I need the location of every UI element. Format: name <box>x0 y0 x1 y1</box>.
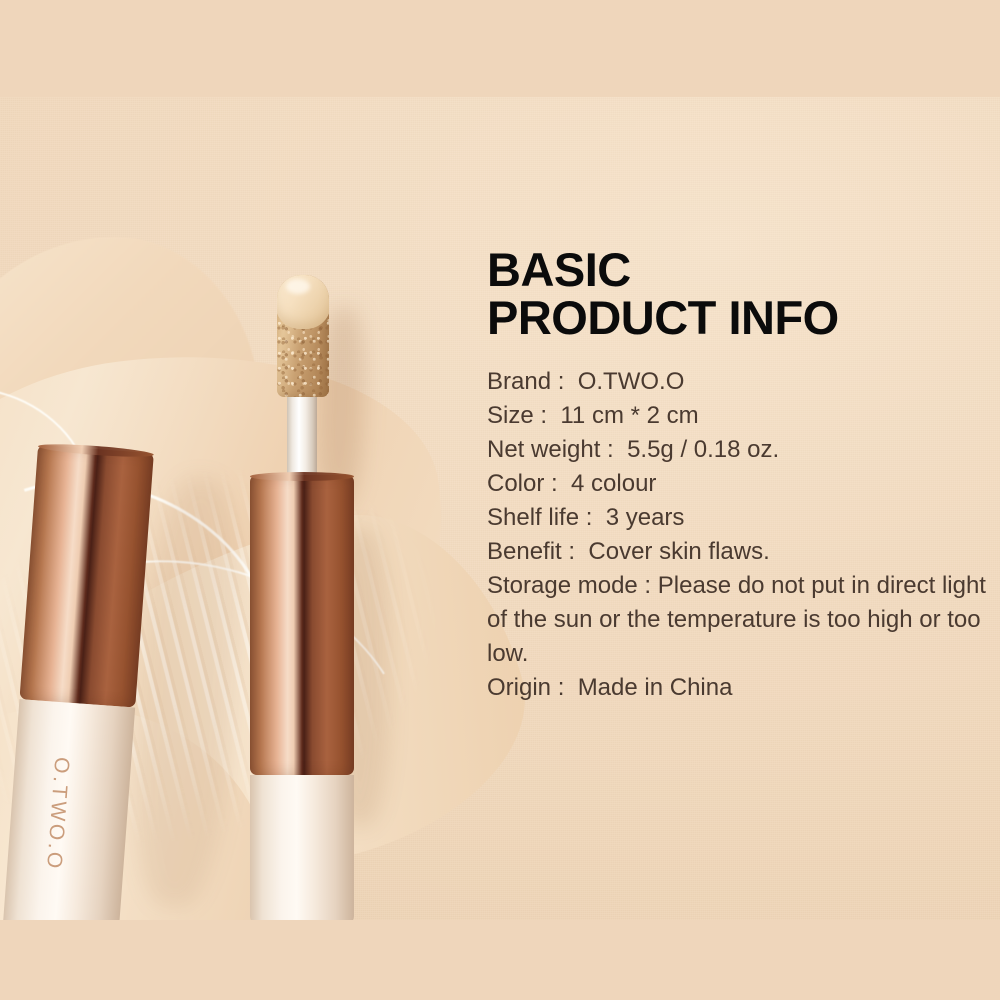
concealer-product-on-tip <box>277 275 329 329</box>
spec-brand: Brand : O.TWO.O <box>487 365 987 399</box>
page-title-line-2: PRODUCT INFO <box>487 294 987 342</box>
spec-storage-mode: Storage mode : Please do not put in dire… <box>487 569 987 671</box>
spec-size: Size : 11 cm * 2 cm <box>487 399 987 433</box>
page-frame: O.TWO.O BASIC PRODUCT INFO Brand : O.TWO… <box>0 0 1000 1000</box>
brand-engraving-label: O.TWO.O <box>41 756 73 872</box>
page-title-line-1: BASIC <box>487 243 631 296</box>
product-info-panel: BASIC PRODUCT INFO Brand : O.TWO.O Size … <box>487 246 987 705</box>
spec-color: Color : 4 colour <box>487 467 987 501</box>
standing-tube-body <box>250 775 354 920</box>
standing-tube <box>250 475 354 920</box>
spec-net-weight: Net weight : 5.5g / 0.18 oz. <box>487 433 987 467</box>
applicator-tip <box>277 275 329 397</box>
tilted-tube-cap <box>19 445 153 708</box>
spec-list: Brand : O.TWO.O Size : 11 cm * 2 cm Net … <box>487 365 987 705</box>
spec-benefit: Benefit : Cover skin flaws. <box>487 535 987 569</box>
spec-origin: Origin : Made in China <box>487 671 987 705</box>
spec-shelf-life: Shelf life : 3 years <box>487 501 987 535</box>
tilted-tube-body: O.TWO.O <box>0 699 135 920</box>
standing-tube-cap <box>250 475 354 775</box>
page-title: BASIC PRODUCT INFO <box>487 246 987 343</box>
